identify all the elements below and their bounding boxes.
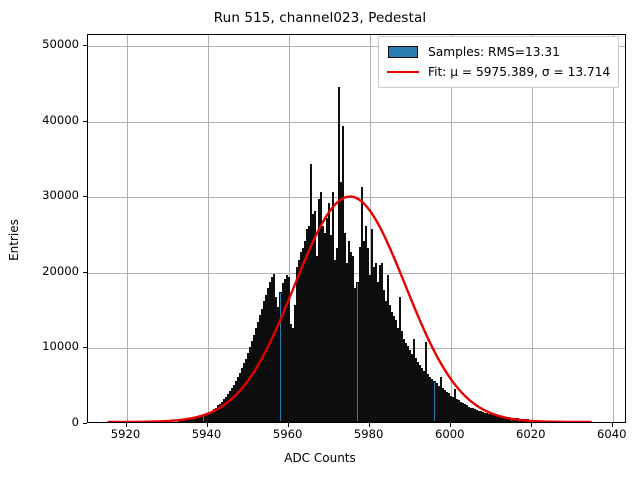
y-tick-label: 40000 (9, 113, 79, 127)
y-tick-mark (83, 121, 87, 122)
legend-patch-icon (386, 45, 420, 59)
legend-item-samples: Samples: RMS=13.31 (386, 42, 610, 62)
y-tick-mark (83, 45, 87, 46)
y-tick-label: 10000 (9, 339, 79, 353)
chart-legend: Samples: RMS=13.31 Fit: μ = 5975.389, σ … (378, 36, 619, 88)
x-tick-label: 6020 (496, 427, 566, 441)
plot-area (87, 34, 626, 423)
y-tick-label: 50000 (9, 37, 79, 51)
x-tick-label: 5980 (334, 427, 404, 441)
legend-item-fit: Fit: μ = 5975.389, σ = 13.714 (386, 62, 610, 82)
x-tick-label: 6040 (577, 427, 640, 441)
x-tick-label: 5920 (91, 427, 161, 441)
figure-canvas: Run 515, channel023, Pedestal 5920594059… (0, 0, 640, 480)
x-tick-label: 5940 (172, 427, 242, 441)
legend-line-icon (386, 65, 420, 79)
x-tick-label: 6000 (415, 427, 485, 441)
chart-title: Run 515, channel023, Pedestal (0, 10, 640, 26)
x-tick-label: 5960 (253, 427, 323, 441)
gaussian-fit-curve (88, 35, 625, 422)
y-tick-mark (83, 196, 87, 197)
y-tick-label: 0 (9, 415, 79, 429)
legend-label-samples: Samples: RMS=13.31 (428, 45, 560, 59)
legend-label-fit: Fit: μ = 5975.389, σ = 13.714 (428, 65, 610, 79)
y-tick-mark (83, 347, 87, 348)
y-tick-mark (83, 272, 87, 273)
y-tick-mark (83, 423, 87, 424)
y-axis-label: Entries (7, 140, 21, 340)
x-axis-label: ADC Counts (0, 451, 640, 465)
